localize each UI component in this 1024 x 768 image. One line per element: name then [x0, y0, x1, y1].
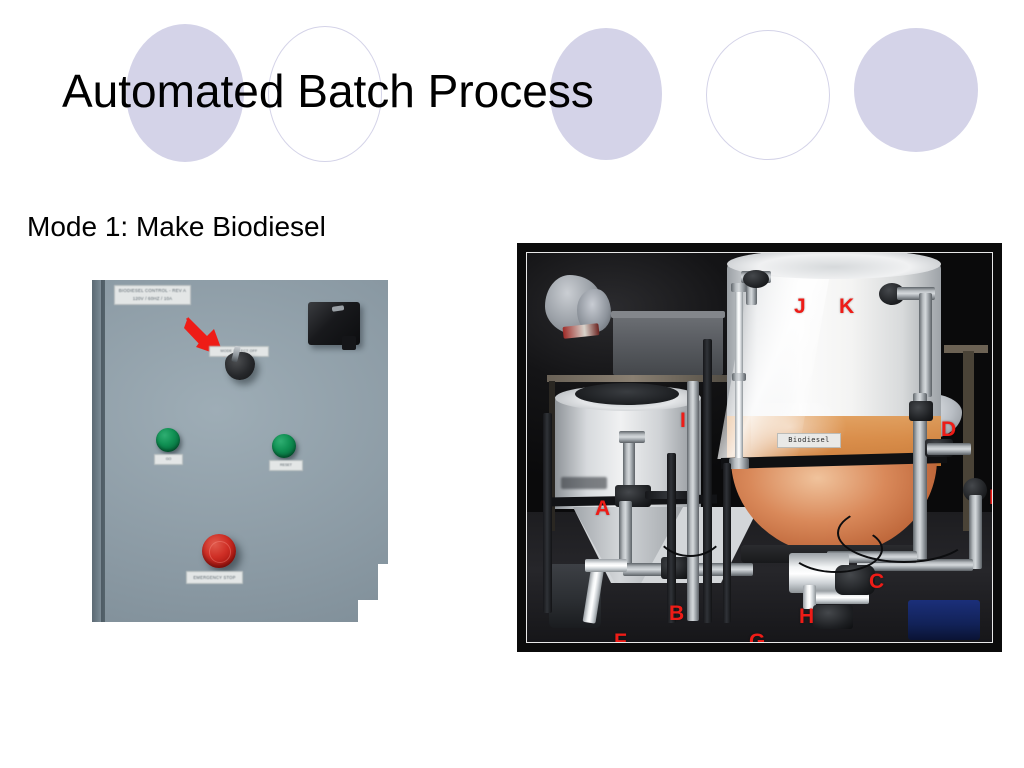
blue-bucket — [908, 600, 980, 640]
slide-subtitle: Mode 1: Make Biodiesel — [27, 209, 326, 245]
wash-tank-lid — [575, 383, 679, 405]
slide-title: Automated Batch Process — [62, 62, 942, 120]
control-panel-edge-bleed — [378, 564, 388, 622]
right-branch-pipe — [927, 443, 971, 455]
frame-post-right — [723, 463, 731, 623]
callout-I: I — [680, 410, 686, 431]
frame-post-left — [543, 413, 552, 613]
emergency-stop-plate: EMERGENCY STOP — [186, 571, 243, 584]
callout-C: C — [869, 571, 884, 592]
callout-B: B — [669, 603, 684, 624]
outlet-pipe-F-elbow — [585, 559, 627, 572]
wash-tank-outlet-elbow — [619, 431, 645, 443]
sight-tube-fitting-bottom — [729, 458, 749, 469]
valve-D — [909, 401, 933, 421]
callout-F: F — [614, 631, 627, 642]
callout-K: K — [839, 296, 854, 317]
control-panel-door-gap — [101, 280, 105, 622]
reactor-photo-scene: Biodiesel — [527, 253, 992, 642]
reactor-right-downcomer — [919, 293, 932, 397]
control-panel-photo: BIODIESEL CONTROL - REV A 120V / 60HZ / … — [92, 280, 388, 622]
callout-E: E — [989, 487, 992, 508]
emergency-stop-button[interactable] — [202, 534, 236, 568]
power-cable-2 — [837, 503, 971, 563]
wash-tank-downcomer — [619, 501, 632, 567]
control-panel-title-plate: BIODIESEL CONTROL - REV A 120V / 60HZ / … — [114, 285, 191, 305]
pump-motor — [813, 605, 853, 629]
callout-H: H — [799, 606, 814, 627]
sight-tube-fitting-mid — [732, 373, 746, 381]
callout-J: J — [794, 296, 806, 317]
callout-D: D — [941, 419, 956, 440]
wash-tank-decal — [561, 477, 607, 489]
green-pushbutton-reset[interactable] — [272, 434, 296, 458]
emergency-stop-ring — [209, 541, 231, 563]
green-pushbutton-go[interactable] — [156, 428, 180, 452]
sensor-cable — [653, 493, 727, 557]
reactor-inlet-port — [743, 270, 769, 288]
red-package-clutter — [562, 323, 599, 339]
frame-post-mid2 — [703, 339, 712, 623]
reactor-photo-inner-border: Biodiesel — [526, 252, 993, 643]
green-pushbutton-reset-plate: RESET — [269, 460, 303, 471]
reactor-tank-decal: Biodiesel — [777, 433, 841, 448]
control-panel-black-device-tab — [342, 336, 356, 350]
grey-tote-bin-lip — [611, 311, 725, 318]
reactor-photo-frame: Biodiesel — [517, 243, 1002, 652]
green-pushbutton-go-plate: GO — [154, 454, 183, 465]
callout-G: G — [749, 631, 765, 642]
callout-A: A — [595, 498, 610, 519]
